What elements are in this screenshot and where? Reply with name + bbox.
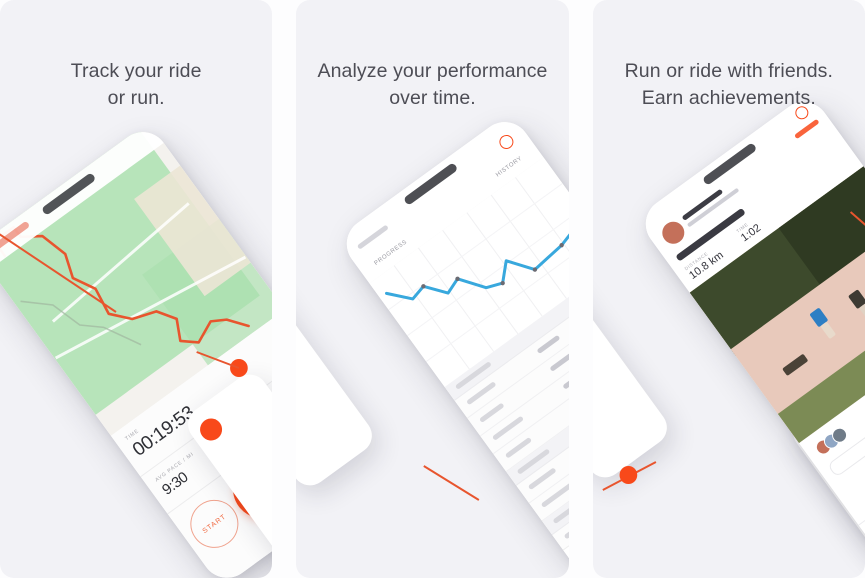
metric-time: TIME 1:02 [735,217,763,244]
notifications-icon[interactable] [792,104,810,122]
phone-stage-track: TIME 00:19:53 AVG PACE / MI 9:30 DISTANC… [0,0,272,578]
phone-stage-social: DISTANCE 10.8 km TIME 1:02 [593,0,865,578]
phone-mockup-partial-prev [593,246,674,485]
phone-mockup-track[interactable]: TIME 00:19:53 AVG PACE / MI 9:30 DISTANC… [0,122,272,578]
phone-notch [701,142,756,186]
profile-icon[interactable] [497,132,517,152]
app-store-screenshot-gallery: Track your ride or run. [0,0,865,578]
phone-mockup-analyze[interactable]: Progress History [337,112,569,578]
gallery-panel-social[interactable]: Run or ride with friends. Earn achieveme… [593,0,865,578]
gallery-panel-track[interactable]: Track your ride or run. [0,0,272,578]
follow-button[interactable] [794,119,820,140]
avatar[interactable] [656,216,690,250]
phone-mockup-partial-prev [296,254,379,493]
phone-stage-analyze: Progress History [296,0,568,578]
gallery-panel-analyze[interactable]: Analyze your performance over time. Prog… [296,0,568,578]
